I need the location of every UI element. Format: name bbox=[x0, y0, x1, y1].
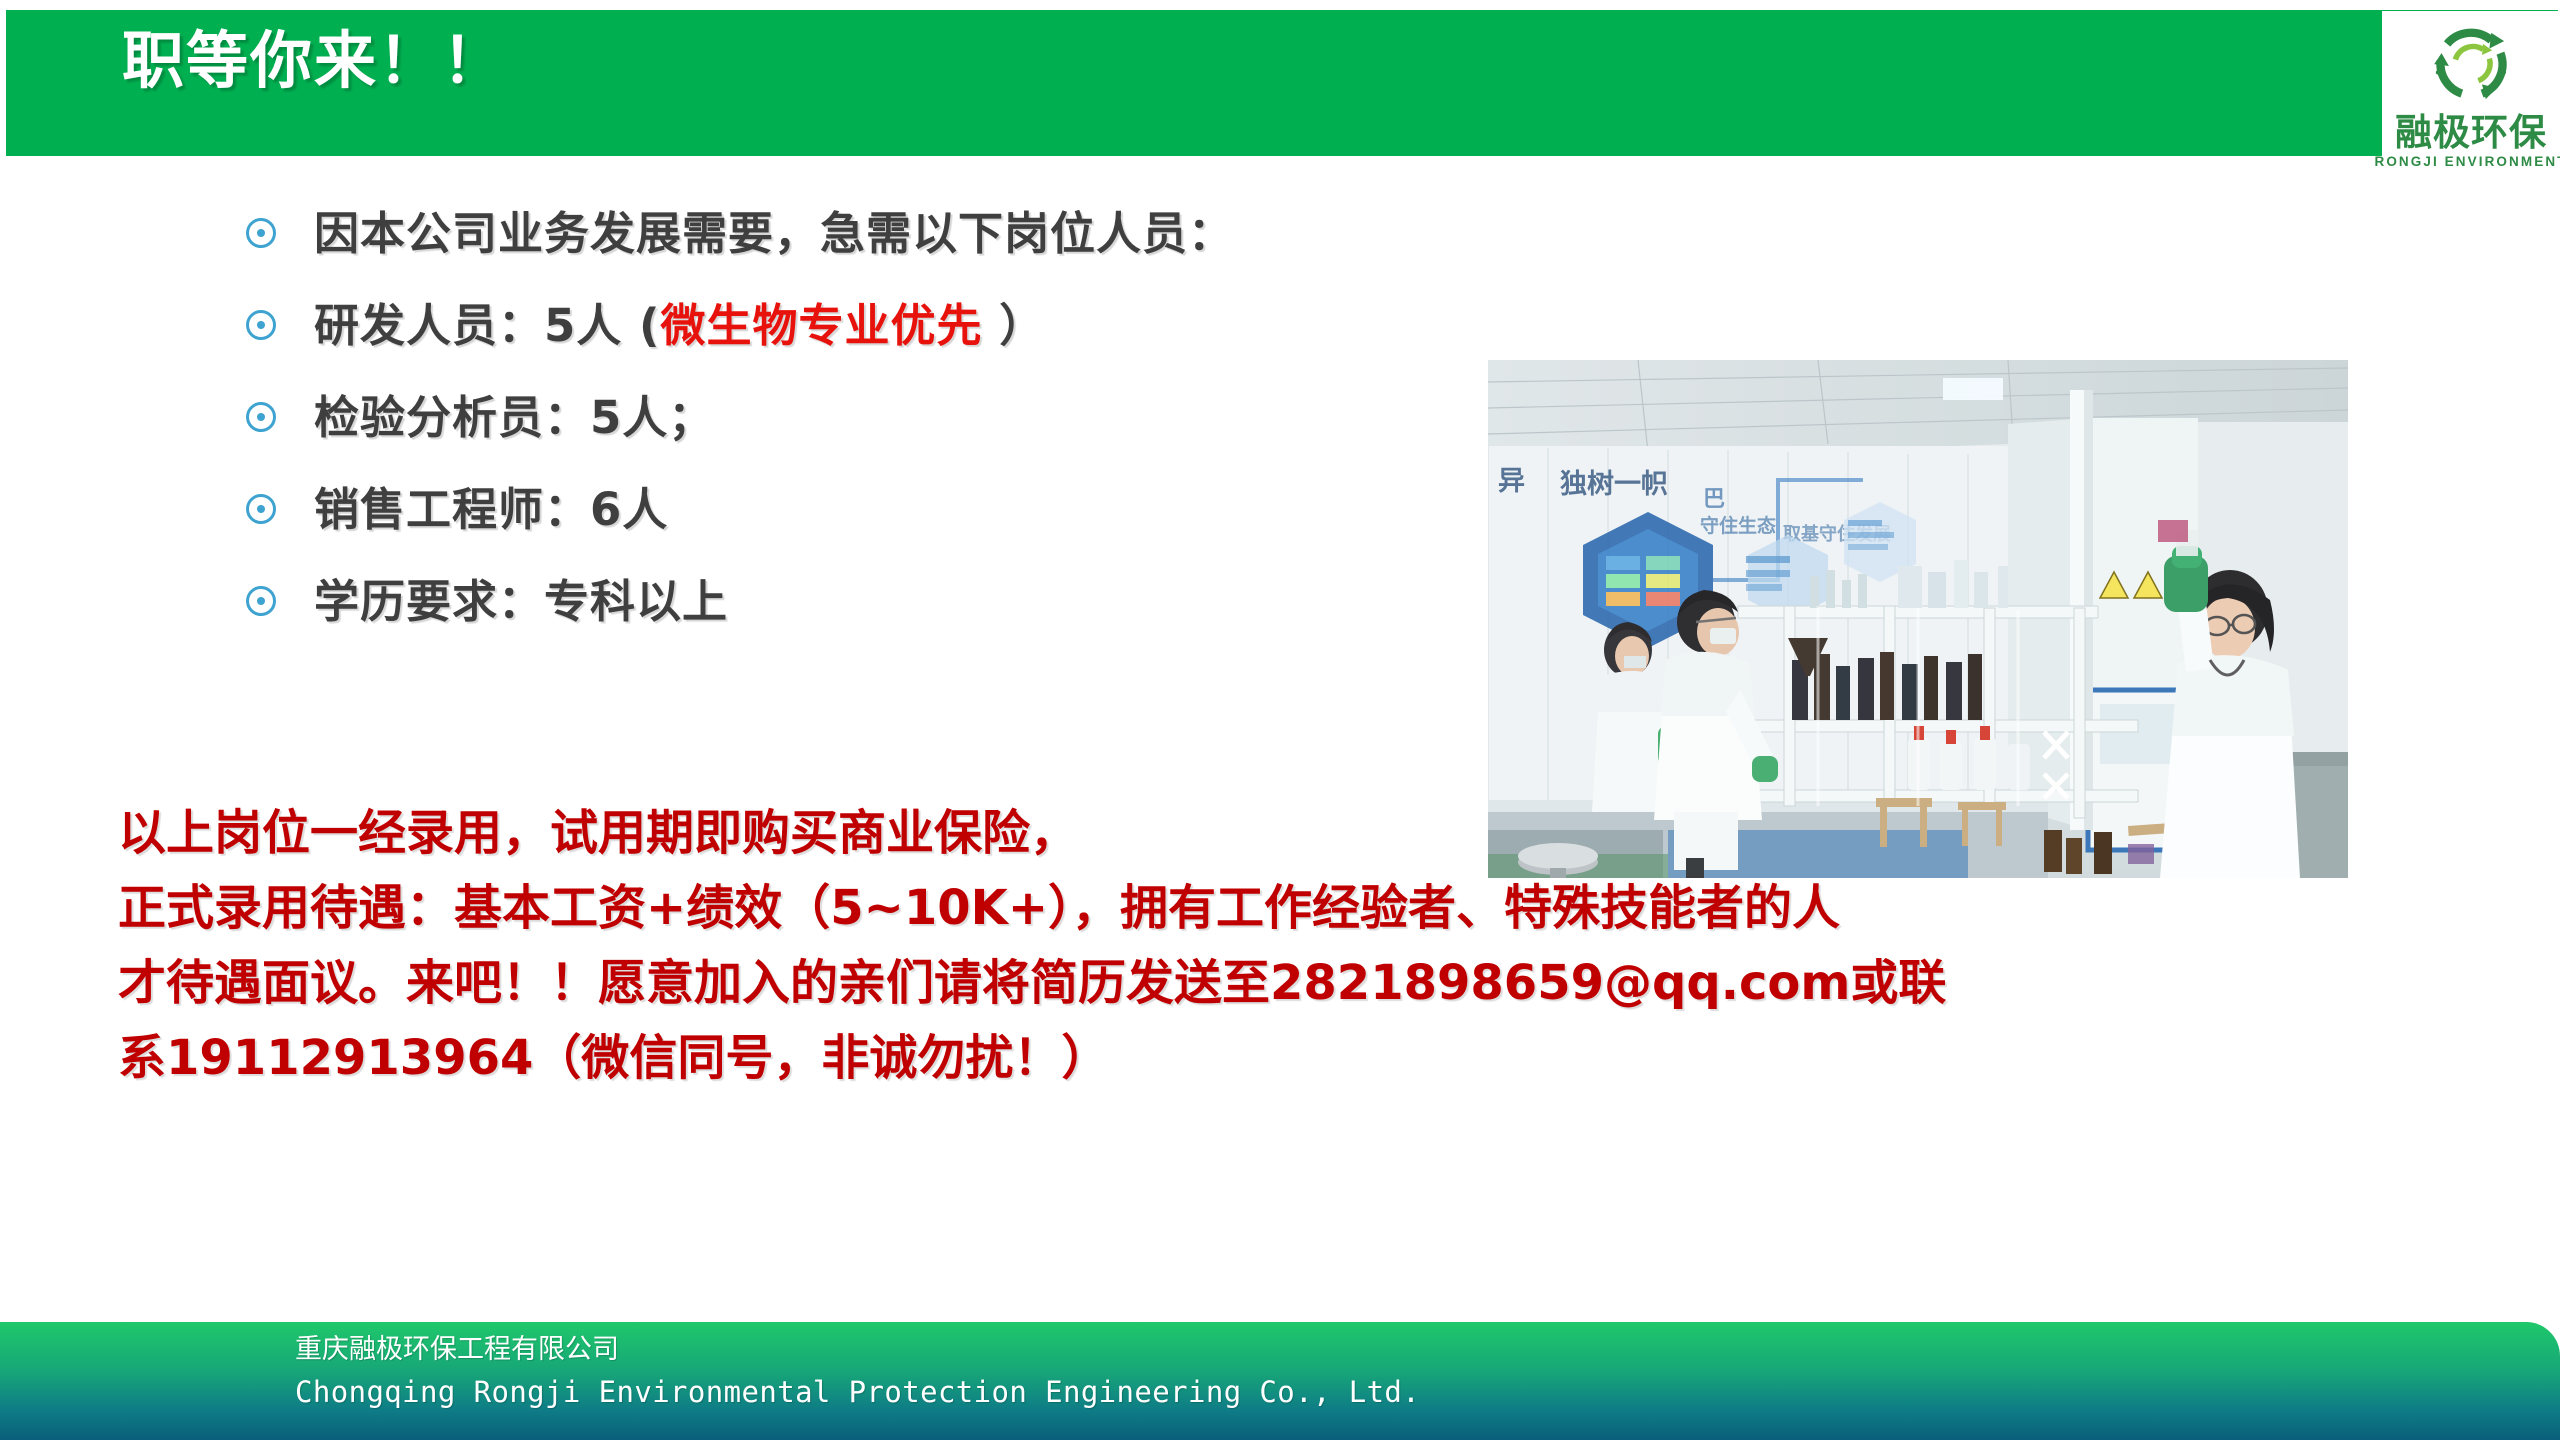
red-notice-paragraph: 以上岗位一经录用，试用期即购买商业保险， 正式录用待遇：基本工资+绩效（5~10… bbox=[118, 796, 2518, 1096]
red-line: 正式录用待遇：基本工资+绩效（5~10K+），拥有工作经验者、特殊技能者的人 bbox=[118, 871, 2518, 946]
list-item: 销售工程师：6人 bbox=[246, 472, 1506, 546]
bullet-text-main: 研发人员：5人 ( bbox=[314, 299, 661, 352]
bullet-text: 研发人员：5人 (微生物专业优先 ） bbox=[314, 303, 1045, 348]
bullet-circle-icon bbox=[246, 586, 276, 616]
bullet-text: 检验分析员：5人； bbox=[314, 395, 714, 440]
bullet-text: 因本公司业务发展需要，急需以下岗位人员： bbox=[314, 211, 1234, 256]
red-line: 以上岗位一经录用，试用期即购买商业保险， bbox=[118, 796, 2518, 871]
header-banner: 职等你来！！ bbox=[6, 10, 2558, 156]
bullet-circle-icon bbox=[246, 494, 276, 524]
logo-english-name: RONGJI ENVIRONMENT bbox=[2374, 155, 2560, 169]
list-item: 学历要求：专科以上 bbox=[246, 564, 1506, 638]
recycle-circle-icon bbox=[2425, 20, 2517, 112]
page-title: 职等你来！！ bbox=[122, 30, 506, 92]
company-logo: 融极环保 RONGJI ENVIRONMENT bbox=[2382, 11, 2560, 189]
footer-company-cn: 重庆融极环保工程有限公司 bbox=[295, 1336, 619, 1363]
red-line: 才待遇面议。来吧！！愿意加入的亲们请将简历发送至2821898659@qq.co… bbox=[118, 946, 2518, 1021]
bullet-circle-icon bbox=[246, 402, 276, 432]
logo-chinese-name: 融极环保 bbox=[2395, 114, 2547, 151]
bullet-text: 学历要求：专科以上 bbox=[314, 579, 728, 624]
footer-company-en: Chongqing Rongji Environmental Protectio… bbox=[295, 1378, 1420, 1407]
list-item: 研发人员：5人 (微生物专业优先 ） bbox=[246, 288, 1506, 362]
list-item: 因本公司业务发展需要，急需以下岗位人员： bbox=[246, 196, 1506, 270]
bullet-circle-icon bbox=[246, 218, 276, 248]
bullet-text: 销售工程师：6人 bbox=[314, 487, 668, 532]
bullet-circle-icon bbox=[246, 310, 276, 340]
recruitment-slide: 职等你来！！ bbox=[0, 0, 2560, 1440]
red-line: 系19112913964（微信同号，非诚勿扰！） bbox=[118, 1021, 2518, 1096]
footer-bar: 重庆融极环保工程有限公司 Chongqing Rongji Environmen… bbox=[0, 1322, 2560, 1440]
bullet-text-highlight: 微生物专业优先 bbox=[661, 299, 983, 352]
list-item: 检验分析员：5人； bbox=[246, 380, 1506, 454]
job-bullet-list: 因本公司业务发展需要，急需以下岗位人员： 研发人员：5人 (微生物专业优先 ） … bbox=[246, 196, 1506, 638]
bullet-text-suffix: ） bbox=[983, 299, 1046, 352]
